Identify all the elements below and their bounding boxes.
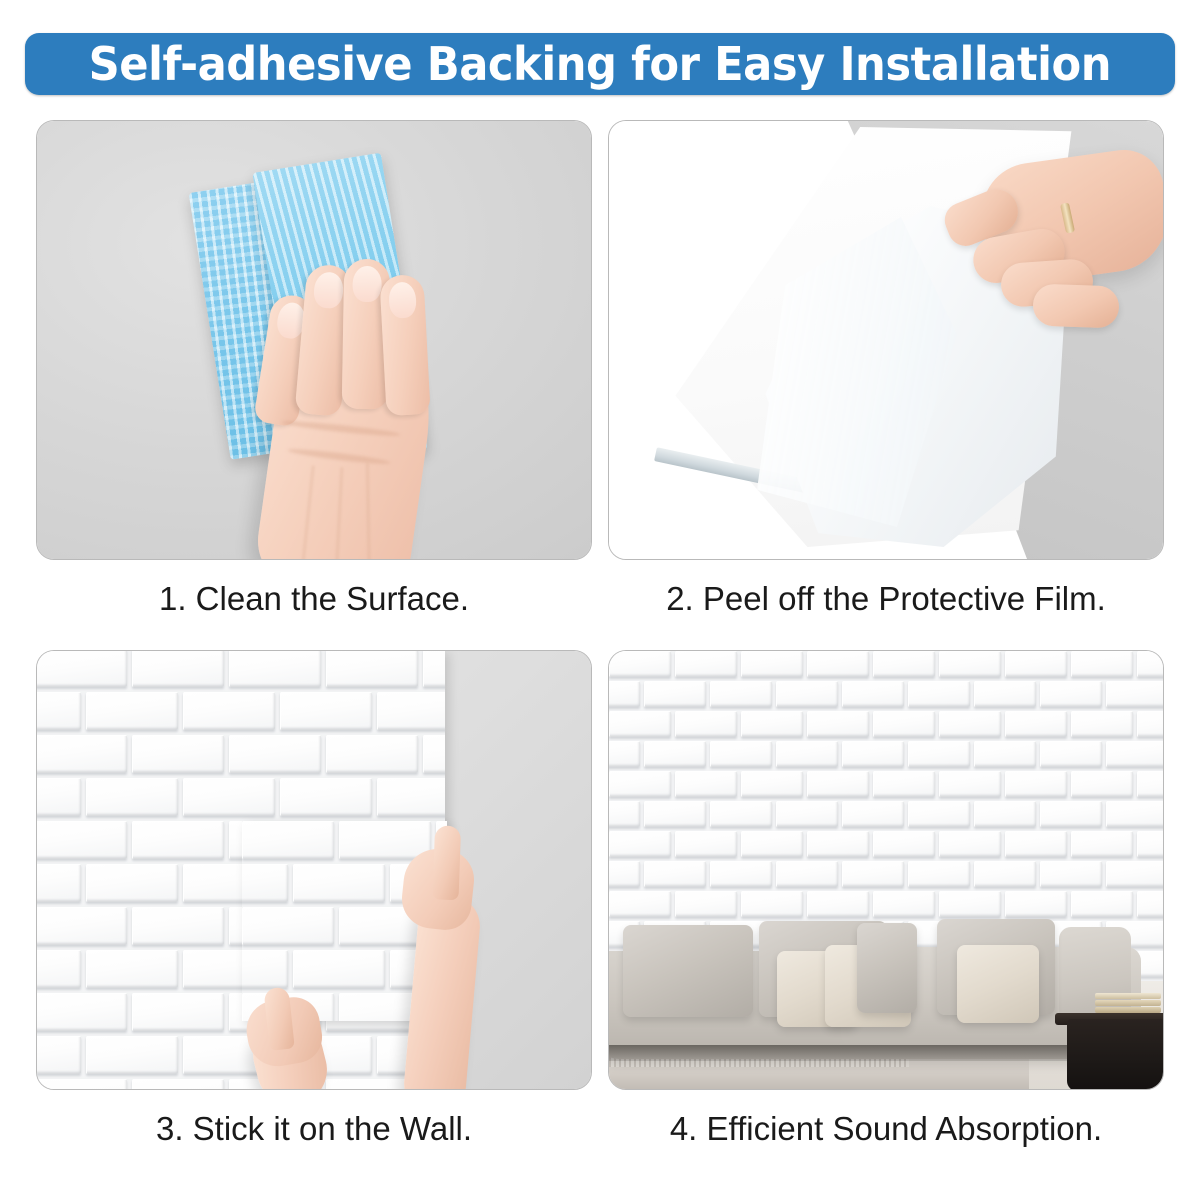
brick-tile xyxy=(377,778,445,816)
fingernail xyxy=(313,271,345,309)
brick-tile xyxy=(1071,651,1133,677)
brick-tile xyxy=(644,741,706,767)
brick-tile xyxy=(908,801,970,827)
step-4-caption: 4. Efficient Sound Absorption. xyxy=(608,1110,1164,1148)
step-2-caption: 2. Peel off the Protective Film. xyxy=(608,580,1164,618)
brick-tile xyxy=(293,864,385,902)
brick-tile xyxy=(1040,681,1102,707)
brick-row xyxy=(36,650,445,687)
brick-tile xyxy=(939,711,1001,737)
brick-row xyxy=(609,681,1164,707)
brick-tile xyxy=(1106,681,1164,707)
brick-row xyxy=(609,831,1164,857)
brick-tile xyxy=(132,1079,224,1090)
step-2-photo xyxy=(608,120,1164,560)
brick-tile xyxy=(741,891,803,917)
pointing-hand-upper-icon xyxy=(377,819,507,1090)
brick-tile xyxy=(609,801,640,827)
palm xyxy=(399,846,477,933)
brick-tile xyxy=(807,831,869,857)
brick-tile xyxy=(1137,951,1164,977)
brick-tile xyxy=(229,735,321,773)
brick-tile xyxy=(86,692,178,730)
book xyxy=(1095,1007,1161,1013)
installation-steps-grid: 1. Clean the Surface. 2. Peel off the Pr… xyxy=(0,120,1200,1180)
book xyxy=(1095,1000,1161,1006)
brick-tile xyxy=(132,735,224,773)
brick-tile xyxy=(86,1036,178,1074)
cushion-grey xyxy=(857,923,917,1013)
brick-tile xyxy=(873,711,935,737)
brick-row xyxy=(609,711,1164,737)
brick-tile xyxy=(1137,651,1164,677)
brick-tile xyxy=(1071,711,1133,737)
brick-tile xyxy=(1040,801,1102,827)
brick-tile xyxy=(842,801,904,827)
brick-tile xyxy=(1137,891,1164,917)
brick-tile xyxy=(423,650,445,687)
brick-tile xyxy=(807,711,869,737)
brick-tile xyxy=(326,650,418,687)
step-card-4: 4. Efficient Sound Absorption. xyxy=(608,650,1164,1148)
fingernail xyxy=(388,281,417,318)
brick-tile xyxy=(132,907,224,945)
brick-tile xyxy=(842,861,904,887)
brick-tile xyxy=(1137,711,1164,737)
brick-tile xyxy=(710,681,772,707)
brick-tile xyxy=(183,692,275,730)
brick-tile xyxy=(1040,741,1102,767)
step-1-photo xyxy=(36,120,592,560)
brick-tile xyxy=(807,771,869,797)
brick-row xyxy=(609,771,1164,797)
brick-tile xyxy=(675,711,737,737)
brick-tile xyxy=(939,831,1001,857)
finger-index xyxy=(263,987,294,1051)
wiping-hand-icon xyxy=(233,229,453,560)
brick-tile xyxy=(873,771,935,797)
brick-tile xyxy=(36,821,127,859)
brick-tile xyxy=(908,741,970,767)
brick-tile xyxy=(36,1036,81,1074)
brick-tile xyxy=(229,650,321,687)
brick-tile xyxy=(1005,711,1067,737)
brick-tile xyxy=(644,861,706,887)
brick-row xyxy=(36,692,445,730)
brick-tile xyxy=(776,861,838,887)
brick-tile xyxy=(132,821,224,859)
brick-tile xyxy=(36,993,127,1031)
brick-tile xyxy=(873,651,935,677)
brick-tile xyxy=(776,681,838,707)
brick-tile xyxy=(776,741,838,767)
side-table xyxy=(1067,1019,1164,1090)
brick-tile xyxy=(1106,741,1164,767)
brick-row xyxy=(36,778,445,816)
brick-tile xyxy=(242,821,334,859)
brick-tile xyxy=(609,771,671,797)
brick-tile xyxy=(741,831,803,857)
brick-tile xyxy=(86,778,178,816)
brick-tile xyxy=(86,864,178,902)
brick-tile xyxy=(873,831,935,857)
brick-tile xyxy=(974,801,1036,827)
brick-tile xyxy=(280,778,372,816)
brick-tile xyxy=(1040,861,1102,887)
brick-tile xyxy=(609,861,640,887)
brick-tile xyxy=(1137,831,1164,857)
step-4-photo xyxy=(608,650,1164,1090)
step-1-caption: 1. Clean the Surface. xyxy=(36,580,592,618)
brick-tile xyxy=(710,801,772,827)
brick-row xyxy=(609,651,1164,677)
header-banner: Self-adhesive Backing for Easy Installat… xyxy=(25,33,1175,95)
step-3-photo xyxy=(36,650,592,1090)
brick-tile xyxy=(1071,831,1133,857)
brick-tile xyxy=(609,741,640,767)
brick-tile xyxy=(807,651,869,677)
brick-tile xyxy=(1106,861,1164,887)
brick-row xyxy=(609,891,1164,917)
step-card-1: 1. Clean the Surface. xyxy=(36,120,592,618)
brick-tile xyxy=(36,650,127,687)
brick-tile xyxy=(974,861,1036,887)
brick-tile xyxy=(1005,831,1067,857)
brick-tile xyxy=(36,907,127,945)
brick-tile xyxy=(710,741,772,767)
brick-tile xyxy=(675,771,737,797)
brick-tile xyxy=(1137,771,1164,797)
brick-tile xyxy=(741,711,803,737)
brick-tile xyxy=(280,692,372,730)
brick-tile xyxy=(908,681,970,707)
brick-tile xyxy=(1005,891,1067,917)
brick-tile xyxy=(1005,651,1067,677)
brick-tile xyxy=(741,651,803,677)
brick-tile xyxy=(1071,771,1133,797)
brick-tile xyxy=(675,651,737,677)
brick-tile xyxy=(842,741,904,767)
step-3-caption: 3. Stick it on the Wall. xyxy=(36,1110,592,1148)
brick-tile xyxy=(675,891,737,917)
brick-tile xyxy=(1005,771,1067,797)
fingernail xyxy=(352,266,381,302)
brick-tile xyxy=(36,778,81,816)
step-card-2: 2. Peel off the Protective Film. xyxy=(608,120,1164,618)
pointing-hand-lower-icon xyxy=(227,973,357,1090)
finger-index xyxy=(433,825,462,900)
brick-tile xyxy=(36,1079,127,1090)
brick-tile xyxy=(1071,891,1133,917)
brick-tile xyxy=(36,950,81,988)
brick-tile xyxy=(326,735,418,773)
brick-tile xyxy=(939,651,1001,677)
brick-tile xyxy=(609,891,671,917)
brick-row xyxy=(609,801,1164,827)
brick-tile xyxy=(132,993,224,1031)
brick-tile xyxy=(36,692,81,730)
brick-tile xyxy=(710,861,772,887)
brick-tile xyxy=(377,692,445,730)
banner-title: Self-adhesive Backing for Easy Installat… xyxy=(89,37,1111,91)
brick-tile xyxy=(609,681,640,707)
brick-row xyxy=(609,741,1164,767)
sofa-shadow xyxy=(608,1045,1113,1061)
brick-tile xyxy=(741,771,803,797)
finger-index xyxy=(379,274,430,416)
brick-tile xyxy=(86,950,178,988)
brick-tile xyxy=(36,864,81,902)
brick-tile xyxy=(183,778,275,816)
book xyxy=(1095,993,1161,999)
brick-tile xyxy=(908,861,970,887)
stacked-books-icon xyxy=(1095,993,1161,1015)
brick-tile xyxy=(974,681,1036,707)
brick-tile xyxy=(842,681,904,707)
brick-tile xyxy=(675,831,737,857)
brick-tile xyxy=(939,771,1001,797)
brick-tile xyxy=(36,735,127,773)
brick-tile xyxy=(242,907,334,945)
brick-tile xyxy=(644,681,706,707)
brick-tile xyxy=(776,801,838,827)
brick-tile xyxy=(423,735,445,773)
brick-tile xyxy=(132,650,224,687)
brick-row xyxy=(609,861,1164,887)
cushion-cream xyxy=(957,945,1039,1023)
finger-ring xyxy=(1032,284,1119,329)
brick-tile xyxy=(873,891,935,917)
cushion-grey xyxy=(623,925,753,1017)
brick-row xyxy=(36,735,445,773)
brick-tile xyxy=(974,741,1036,767)
brick-tile xyxy=(609,651,671,677)
brick-tile xyxy=(609,831,671,857)
brick-tile xyxy=(807,891,869,917)
peeling-hand-icon xyxy=(917,149,1164,359)
brick-tile xyxy=(242,864,288,902)
step-card-3: 3. Stick it on the Wall. xyxy=(36,650,592,1148)
brick-tile xyxy=(609,711,671,737)
brick-tile xyxy=(939,891,1001,917)
brick-tile xyxy=(644,801,706,827)
brick-tile xyxy=(1106,801,1164,827)
